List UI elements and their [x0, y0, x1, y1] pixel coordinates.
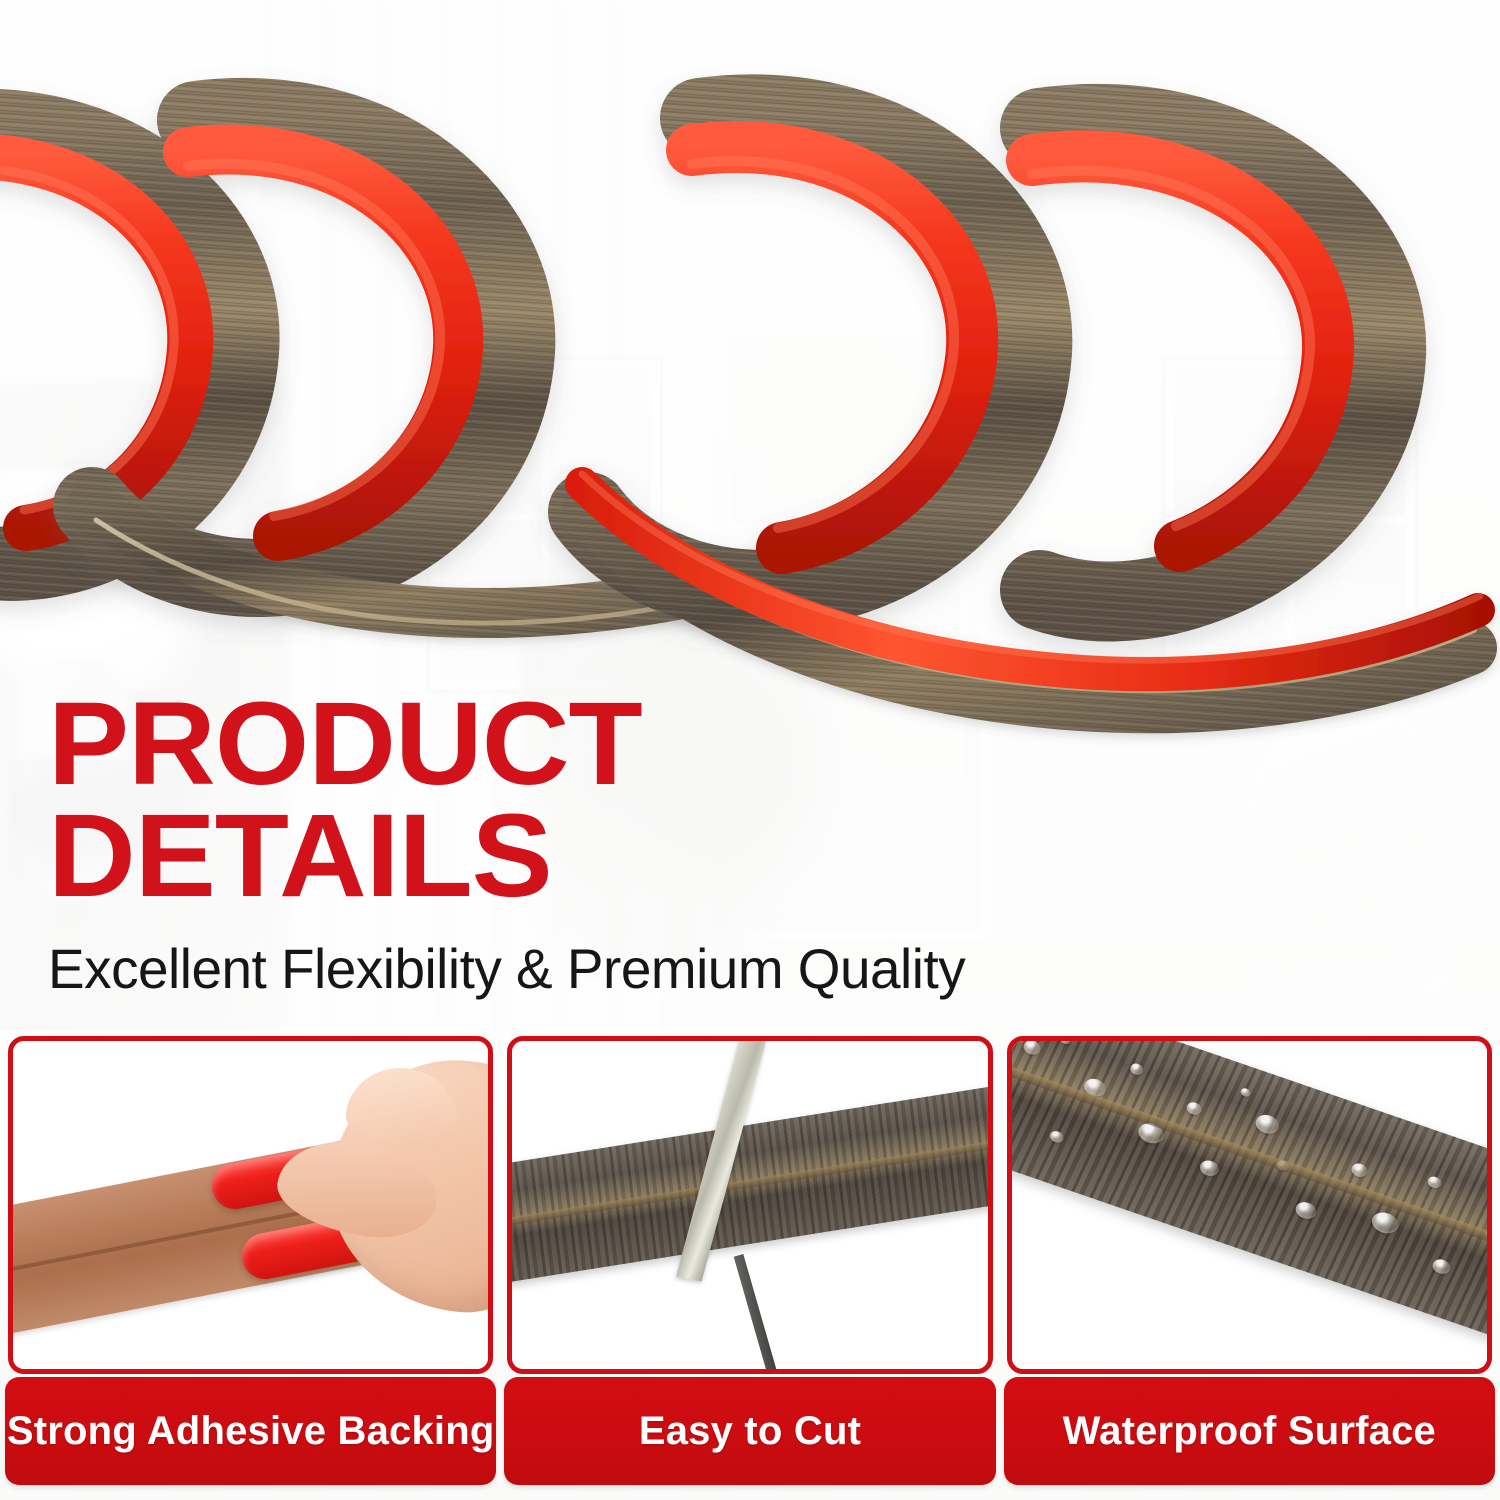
- water-droplet: [1058, 1041, 1071, 1045]
- coiled-trim-strip-illustration: [0, 0, 1500, 760]
- feature-label-text: Waterproof Surface: [1063, 1409, 1436, 1454]
- feature-label-text: Strong Adhesive Backing: [7, 1409, 495, 1454]
- water-droplet: [1293, 1199, 1318, 1221]
- feature-image-waterproof: [1012, 1041, 1487, 1369]
- wood-grain-strip: [512, 1082, 987, 1286]
- water-droplet: [1426, 1175, 1443, 1190]
- feature-label-adhesive: Strong Adhesive Backing: [5, 1377, 496, 1485]
- water-droplet: [1021, 1041, 1042, 1057]
- water-droplet: [1349, 1161, 1368, 1179]
- hero-product-image: [0, 0, 1500, 760]
- water-droplet: [1128, 1062, 1144, 1077]
- feature-label-waterproof: Waterproof Surface: [1004, 1377, 1495, 1485]
- headline-block: PRODUCT DETAILS Excellent Flexibility & …: [48, 688, 1228, 999]
- water-droplet: [1253, 1112, 1282, 1137]
- page-title: PRODUCT DETAILS: [48, 688, 1263, 912]
- coil-loop-4: [1032, 124, 1386, 602]
- water-droplet: [1081, 1076, 1107, 1099]
- feature-card-adhesive[interactable]: Strong Adhesive Backing: [8, 1036, 493, 1374]
- product-detail-banner: PRODUCT DETAILS Excellent Flexibility & …: [0, 0, 1500, 1500]
- water-droplet: [1135, 1120, 1166, 1146]
- feature-card-row: Strong Adhesive Backing Easy to Cut: [0, 1036, 1500, 1476]
- water-droplet: [1369, 1209, 1401, 1237]
- water-droplet: [1483, 1223, 1487, 1247]
- page-subtitle: Excellent Flexibility & Premium Quality: [48, 940, 1204, 999]
- water-droplet: [1198, 1158, 1221, 1178]
- water-droplet: [1185, 1100, 1203, 1116]
- feature-image-adhesive: [13, 1041, 488, 1369]
- feature-card-waterproof[interactable]: Waterproof Surface: [1007, 1036, 1492, 1374]
- water-droplet: [1239, 1087, 1251, 1098]
- hand-icon: [315, 1044, 489, 1324]
- feature-card-easy-cut[interactable]: Easy to Cut: [507, 1036, 992, 1374]
- coil-loop-3: [588, 114, 1032, 589]
- feature-label-easy-cut: Easy to Cut: [504, 1377, 995, 1485]
- water-droplet: [1048, 1129, 1065, 1144]
- wet-wood-grain-strip: [1012, 1041, 1487, 1349]
- water-droplet: [1430, 1257, 1452, 1276]
- feature-label-text: Easy to Cut: [639, 1409, 861, 1454]
- scissors-handle-icon: [734, 1254, 777, 1369]
- feature-image-easy-cut: [512, 1041, 987, 1369]
- water-droplet: [1275, 1159, 1290, 1172]
